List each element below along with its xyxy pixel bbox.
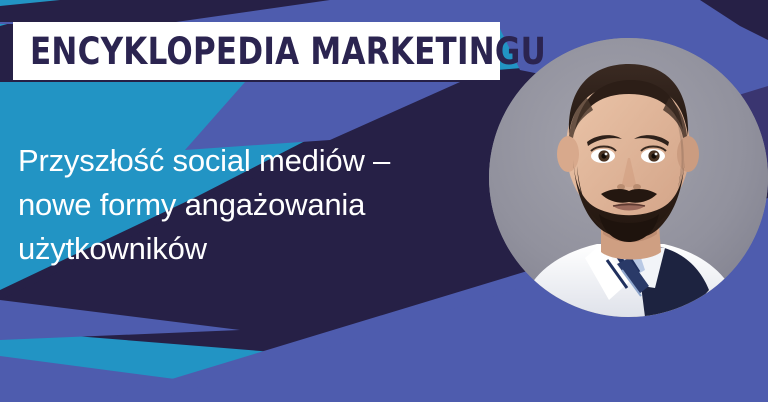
- title-plate: ENCYKLOPEDIA MARKETINGU: [13, 22, 500, 80]
- article-header-banner: ENCYKLOPEDIA MARKETINGU Przyszłość socia…: [0, 0, 768, 402]
- article-subtitle: Przyszłość social mediów – nowe formy an…: [18, 139, 488, 271]
- portrait-circle-mask: [489, 38, 768, 317]
- author-portrait: [489, 38, 768, 317]
- page-title: ENCYKLOPEDIA MARKETINGU: [30, 33, 546, 70]
- portrait-illustration: [489, 38, 768, 317]
